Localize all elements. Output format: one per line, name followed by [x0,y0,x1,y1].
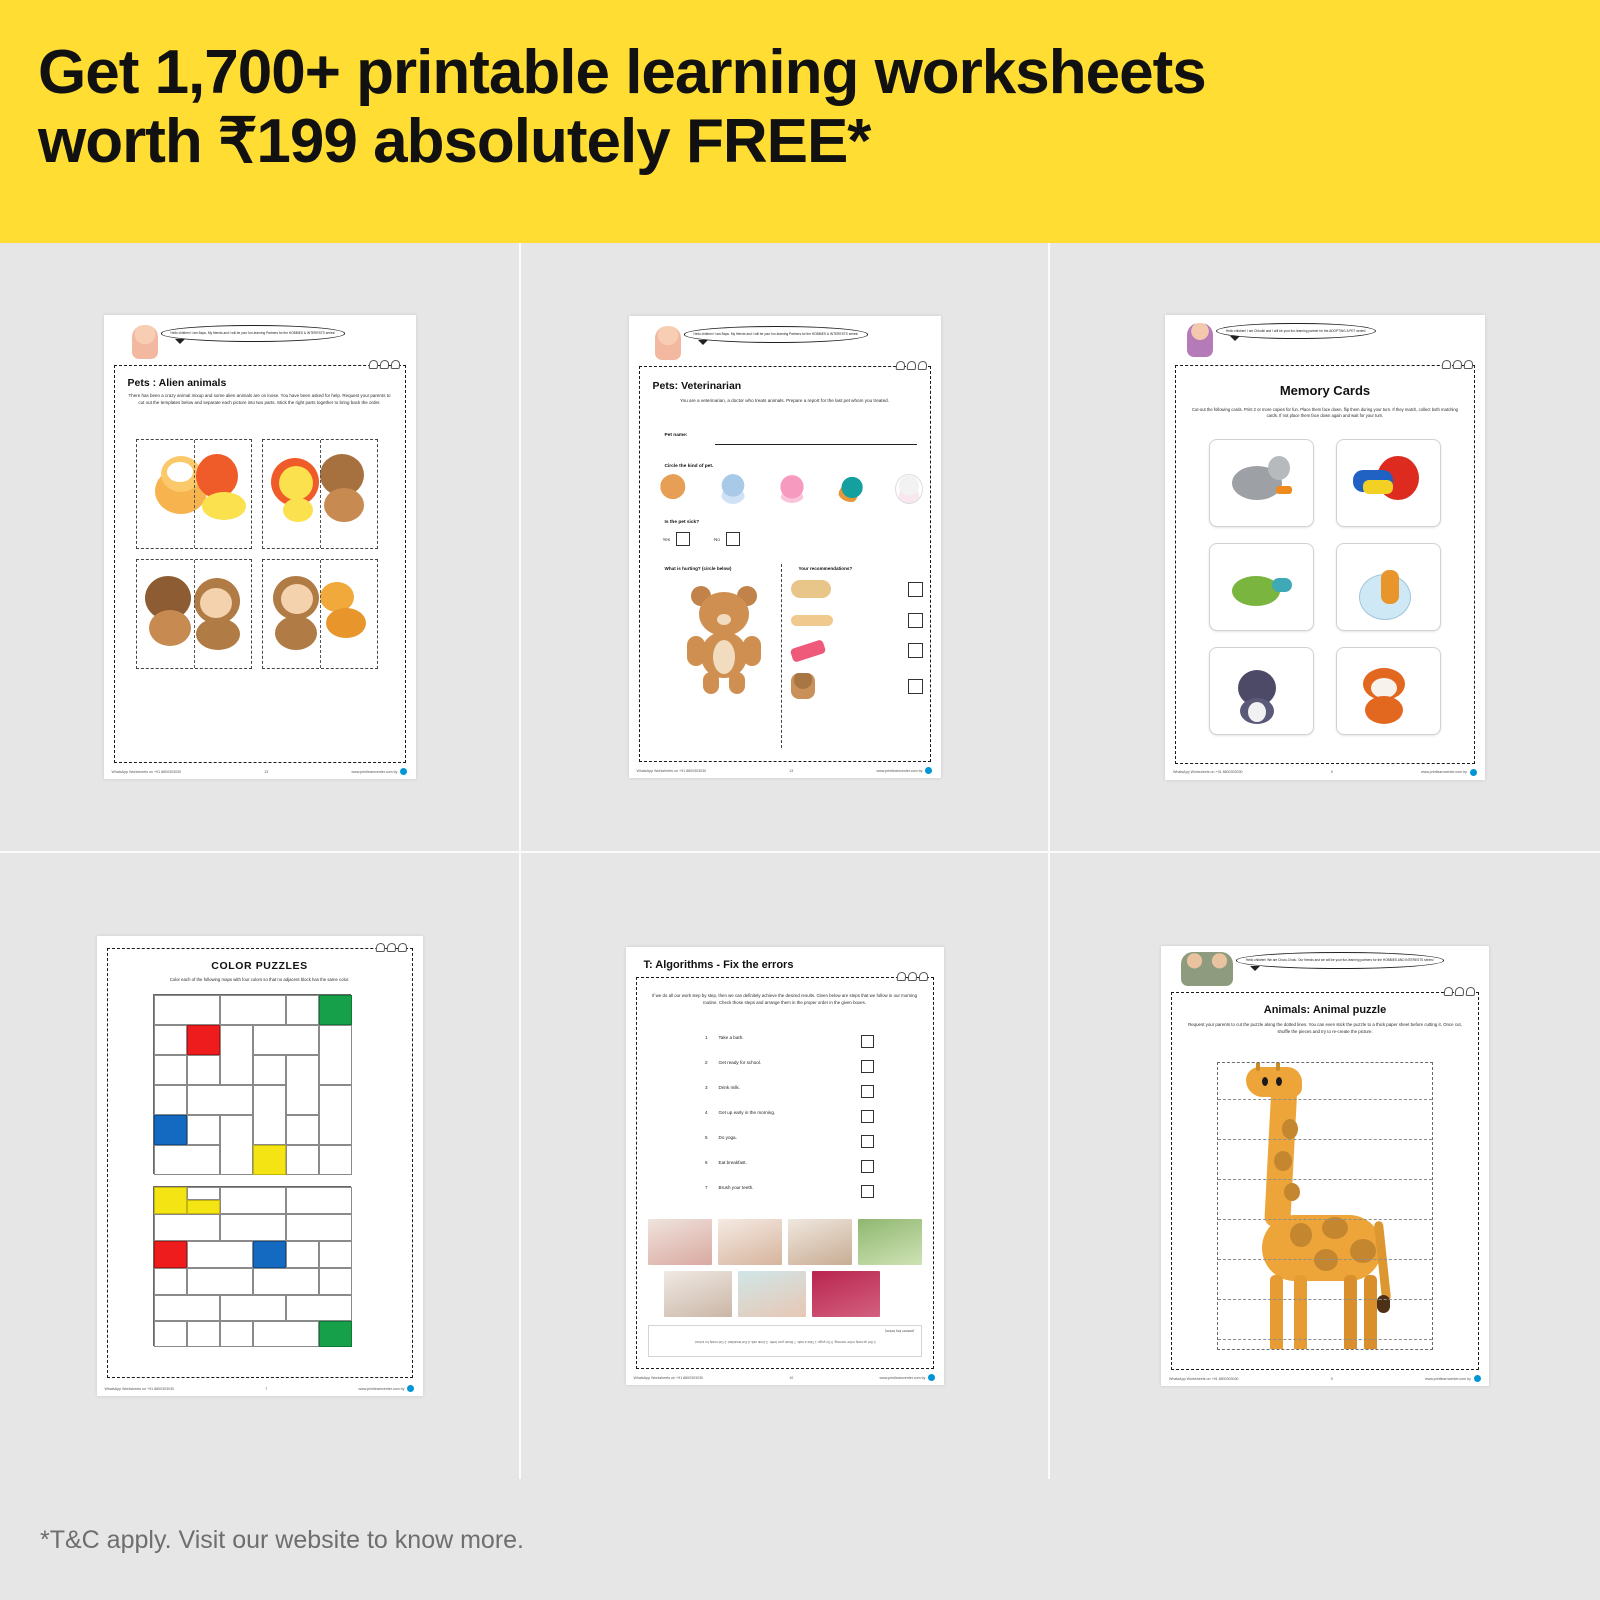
tile-half-right [320,560,377,668]
sick-option-yes-checkbox[interactable] [676,532,690,546]
step-row[interactable]: 3 Drink milk. [654,1085,922,1110]
worksheet-cell-memory-cards[interactable]: Hello children! I am Chhutki and I will … [1050,243,1600,851]
worksheet-gallery: Hello children! I am Bapu. My friends an… [0,243,1600,1481]
routine-photo[interactable] [788,1219,852,1265]
hp-logo-icon [407,1385,414,1392]
sheet-footer: WhatsApp Worksheets on +91 8800303030 5 … [1169,1375,1481,1382]
hp-logo-icon [400,768,407,775]
footer-website: www.printlearncenter.com by [359,1387,405,1391]
speech-bubble-text: Hello children! We are Chutu-Chotu. Our … [1246,958,1434,963]
routine-photo[interactable] [648,1219,712,1265]
page-title: Pets : Alien animals [128,377,227,389]
footer-page-number: 5 [1331,1377,1333,1381]
worksheet-memory-cards[interactable]: Hello children! I am Chhutki and I will … [1165,315,1485,780]
worksheet-description: Cut-out the following cards. Print 2 or … [1187,407,1463,420]
speech-bubble-text: Hello children! I am Bapu. My friends an… [171,331,336,336]
chhutki-mascot-icon [1187,323,1213,357]
routine-photo[interactable] [718,1219,782,1265]
worksheet-description: If we do all our work step by step, then… [648,993,922,1007]
worksheet-border [639,366,931,762]
worksheet-animals-animal-puzzle[interactable]: Hello children! We are Chutu-Chotu. Our … [1161,946,1489,1386]
syringe-icon [789,639,826,663]
worksheet-pets-veterinarian[interactable]: Hello children! I am Bapu. My friends an… [629,316,941,778]
step-text: Get up early in the morning. [719,1110,776,1115]
hp-logo-icon [1470,769,1477,776]
crown-decoration-icon [369,360,400,369]
footer-whatsapp: WhatsApp Worksheets on +91 8800303030 [112,770,182,774]
bapu-mascot-icon [655,326,681,360]
worksheet-cell-animal-puzzle[interactable]: Hello children! We are Chutu-Chotu. Our … [1050,853,1600,1479]
step-number: 4 [690,1110,708,1115]
speech-bubble: Hello children! I am Bapu. My friends an… [161,325,346,342]
crown-decoration-icon [376,943,407,952]
recommend-checkbox[interactable] [908,613,923,628]
color-puzzle-grid-2[interactable] [153,1186,351,1346]
footer-whatsapp: WhatsApp Worksheets on +91 8800303030 [105,1387,175,1391]
step-checkbox[interactable] [861,1160,874,1173]
memory-card[interactable] [1336,543,1441,631]
worksheet-description: Color each of the following maps with fo… [119,977,401,982]
worksheet-color-puzzles[interactable]: COLOR PUZZLES Color each of the followin… [97,936,423,1396]
giraffe-tail-tuft [1377,1295,1390,1313]
hp-logo-icon [928,1374,935,1381]
step-row[interactable]: 7 Brush your teeth. [654,1185,922,1210]
pet-name-label: Pet name: [665,433,688,438]
memory-card[interactable] [1209,439,1314,527]
worksheet-algorithms-fix-errors[interactable]: T: Algorithms - Fix the errors If we do … [626,947,944,1385]
footer-whatsapp: WhatsApp Worksheets on +91 8800303030 [1169,1377,1239,1381]
chutu-chotu-mascot-icon [1181,952,1233,986]
footer-page-number: 10 [789,1376,793,1380]
giraffe-head [1246,1067,1302,1097]
step-row[interactable]: 6 Eat breakfast. [654,1160,922,1185]
worksheet-description: Request your parents to cut the puzzle a… [1185,1022,1465,1035]
recommend-checkbox[interactable] [908,679,923,694]
recommendations-label: Your recommendations? [799,566,853,571]
colored-block-yellow[interactable] [253,1145,286,1175]
crown-decoration-icon [896,361,927,370]
promo-headline-line-2: worth ₹199 absolutely FREE* [38,107,1600,176]
bandage-icon [791,615,833,626]
step-number: 2 [690,1060,708,1065]
step-row[interactable]: 4 Get up early in the morning. [654,1110,922,1135]
crown-decoration-icon [1444,987,1475,996]
giraffe-horn [1276,1062,1280,1071]
footer-page-number: 7 [265,1387,267,1391]
tile-half-left [263,560,320,668]
footer-website: www.printlearncenter.com by [880,1376,926,1380]
tile-half-left [263,440,320,548]
recommend-row[interactable] [791,643,923,658]
step-row[interactable]: 1 Take a bath. [654,1035,922,1060]
circle-pet-label: Circle the kind of pet. [665,464,714,469]
pet-option-cat-icon[interactable] [719,474,747,504]
speech-bubble: Hello children! I am Bapu. My friends an… [684,326,869,343]
puzzle-tile[interactable] [262,559,378,669]
memory-card[interactable] [1336,647,1441,735]
step-checkbox[interactable] [861,1035,874,1048]
footer-whatsapp: WhatsApp Worksheets on +91 8800303030 [634,1376,704,1380]
step-number: 5 [690,1135,708,1140]
speech-bubble: Hello children! We are Chutu-Chotu. Our … [1236,952,1444,969]
page-title: COLOR PUZZLES [97,960,423,972]
what-is-hurting-label: What is hurting? (circle below) [665,566,732,571]
speech-bubble-text: Hello children! I am Bapu. My friends an… [694,332,859,337]
worksheet-cell-color-puzzles[interactable]: COLOR PUZZLES Color each of the followin… [0,853,519,1479]
speech-bubble-text: Hello children! I am Chhutki and I will … [1226,329,1366,334]
hp-logo-icon [925,767,932,774]
memory-card[interactable] [1209,647,1314,735]
step-row[interactable]: 2 Get ready for school. [654,1060,922,1085]
terms-and-conditions-text: *T&C apply. Visit our website to know mo… [40,1526,524,1555]
crown-decoration-icon [1442,360,1473,369]
recommend-row[interactable] [791,613,923,628]
hp-logo-icon [1474,1375,1481,1382]
routine-photo[interactable] [664,1271,732,1317]
legal-bar: *T&C apply. Visit our website to know mo… [0,1481,1600,1600]
footer-website: www.printlearncenter.com by [1425,1377,1471,1381]
step-number: 3 [690,1085,708,1090]
giraffe-puzzle-area[interactable] [1217,1062,1433,1350]
page-title: T: Algorithms - Fix the errors [644,959,794,971]
puzzle-tile[interactable] [136,559,252,669]
tile-half-right [194,440,251,548]
step-text: Take a bath. [719,1035,744,1040]
footer-whatsapp: WhatsApp Worksheets on +91 8800303030 [637,769,707,773]
routine-photo[interactable] [738,1271,806,1317]
footer-website: www.printlearncenter.com by [877,769,923,773]
recommend-checkbox[interactable] [908,582,923,597]
step-row[interactable]: 5 Do yoga. [654,1135,922,1160]
footer-page-number: 13 [789,769,793,773]
worksheet-description: You are a veterinarian, a doctor who tre… [651,398,919,405]
tile-half-right [320,440,377,548]
step-text: Drink milk. [719,1085,740,1090]
pet-option-pig-icon[interactable] [777,475,807,503]
answer-key-box: (answer key below) 4 Get up early in the… [648,1325,922,1357]
pet-sick-label: Is the pet sick? [665,520,700,525]
crown-decoration-icon [897,972,928,981]
sick-option-no-checkbox[interactable] [726,532,740,546]
colored-block-yellow[interactable] [187,1200,220,1214]
sheet-footer: WhatsApp Worksheets on +91 8800303030 7 … [105,1385,415,1392]
step-checkbox[interactable] [861,1135,874,1148]
worksheet-cell-alien-animals[interactable]: Hello children! I am Bapu. My friends an… [0,243,519,851]
sheet-footer: WhatsApp Worksheets on +91 8800303030 13… [112,768,408,775]
colored-block-blue[interactable] [253,1241,286,1268]
page-title: Animals: Animal puzzle [1161,1004,1489,1016]
tile-half-left [137,560,194,668]
sheet-footer: WhatsApp Worksheets on +91 8800303030 5 … [1173,769,1477,776]
sheet-footer: WhatsApp Worksheets on +91 8800303030 10… [634,1374,936,1381]
pet-name-input[interactable] [715,444,917,445]
memory-card[interactable] [1336,439,1441,527]
footer-page-number: 13 [264,770,268,774]
worksheet-pets-alien-animals[interactable]: Hello children! I am Bapu. My friends an… [104,315,416,779]
tile-half-right [194,560,251,668]
memory-card[interactable] [1209,543,1314,631]
recommend-checkbox[interactable] [908,643,923,658]
routine-photo[interactable] [858,1219,922,1265]
sleeping-cat-icon [791,580,831,598]
step-checkbox[interactable] [861,1110,874,1123]
step-checkbox[interactable] [861,1060,874,1073]
worksheet-description: There has been a crazy animal mixup and … [128,393,392,407]
colored-block-green[interactable] [319,1321,352,1347]
worksheet-cell-algorithms[interactable]: T: Algorithms - Fix the errors If we do … [521,853,1048,1479]
promo-banner: Get 1,700+ printable learning worksheets… [0,0,1600,243]
colored-block-blue[interactable] [154,1115,187,1145]
tile-half-left [137,440,194,548]
step-number: 6 [690,1160,708,1165]
step-checkbox[interactable] [861,1185,874,1198]
step-number: 7 [690,1185,708,1190]
footer-website: www.printlearncenter.com by [352,770,398,774]
x-ray-bear-icon [791,673,815,699]
routine-photo[interactable] [812,1271,880,1317]
worksheet-cell-veterinarian[interactable]: Hello children! I am Bapu. My friends an… [521,243,1048,851]
color-puzzle-grid-1[interactable] [153,994,351,1174]
puzzle-tile[interactable] [262,439,378,549]
answer-key-label: (answer key below) [885,1329,914,1333]
footer-website: www.printlearncenter.com by [1421,770,1467,774]
pet-option-dog-icon[interactable] [659,474,689,504]
colored-block-red[interactable] [154,1241,187,1268]
colored-block-yellow[interactable] [154,1187,187,1214]
pet-option-bird-icon[interactable] [837,476,865,502]
sick-option-yes-label: Yes [663,537,671,542]
step-number: 1 [690,1035,708,1040]
giraffe-horn [1256,1062,1260,1071]
colored-block-red[interactable] [187,1025,220,1055]
step-text: Brush your teeth. [719,1185,754,1190]
footer-whatsapp: WhatsApp Worksheets on +91 8800303030 [1173,770,1243,774]
footer-page-number: 5 [1331,770,1333,774]
page-title: Memory Cards [1165,383,1485,398]
recommend-row[interactable] [791,673,923,699]
colored-block-green[interactable] [319,995,352,1025]
sick-option-no-label: No [714,537,720,542]
section-divider [781,564,782,748]
step-text: Eat breakfast. [719,1160,747,1165]
step-checkbox[interactable] [861,1085,874,1098]
sheet-footer: WhatsApp Worksheets on +91 8800303030 13… [637,767,933,774]
step-text: Do yoga. [719,1135,737,1140]
promo-headline-line-1: Get 1,700+ printable learning worksheets [38,38,1600,107]
pet-option-rabbit-icon[interactable] [895,474,923,504]
bapu-mascot-icon [132,325,158,359]
puzzle-tile[interactable] [136,439,252,549]
teddy-bear-image[interactable] [687,584,761,696]
page-title: Pets: Veterinarian [653,380,742,392]
step-text: Get ready for school. [719,1060,762,1065]
speech-bubble: Hello children! I am Chhutki and I will … [1216,323,1376,340]
recommend-row[interactable] [791,580,923,598]
